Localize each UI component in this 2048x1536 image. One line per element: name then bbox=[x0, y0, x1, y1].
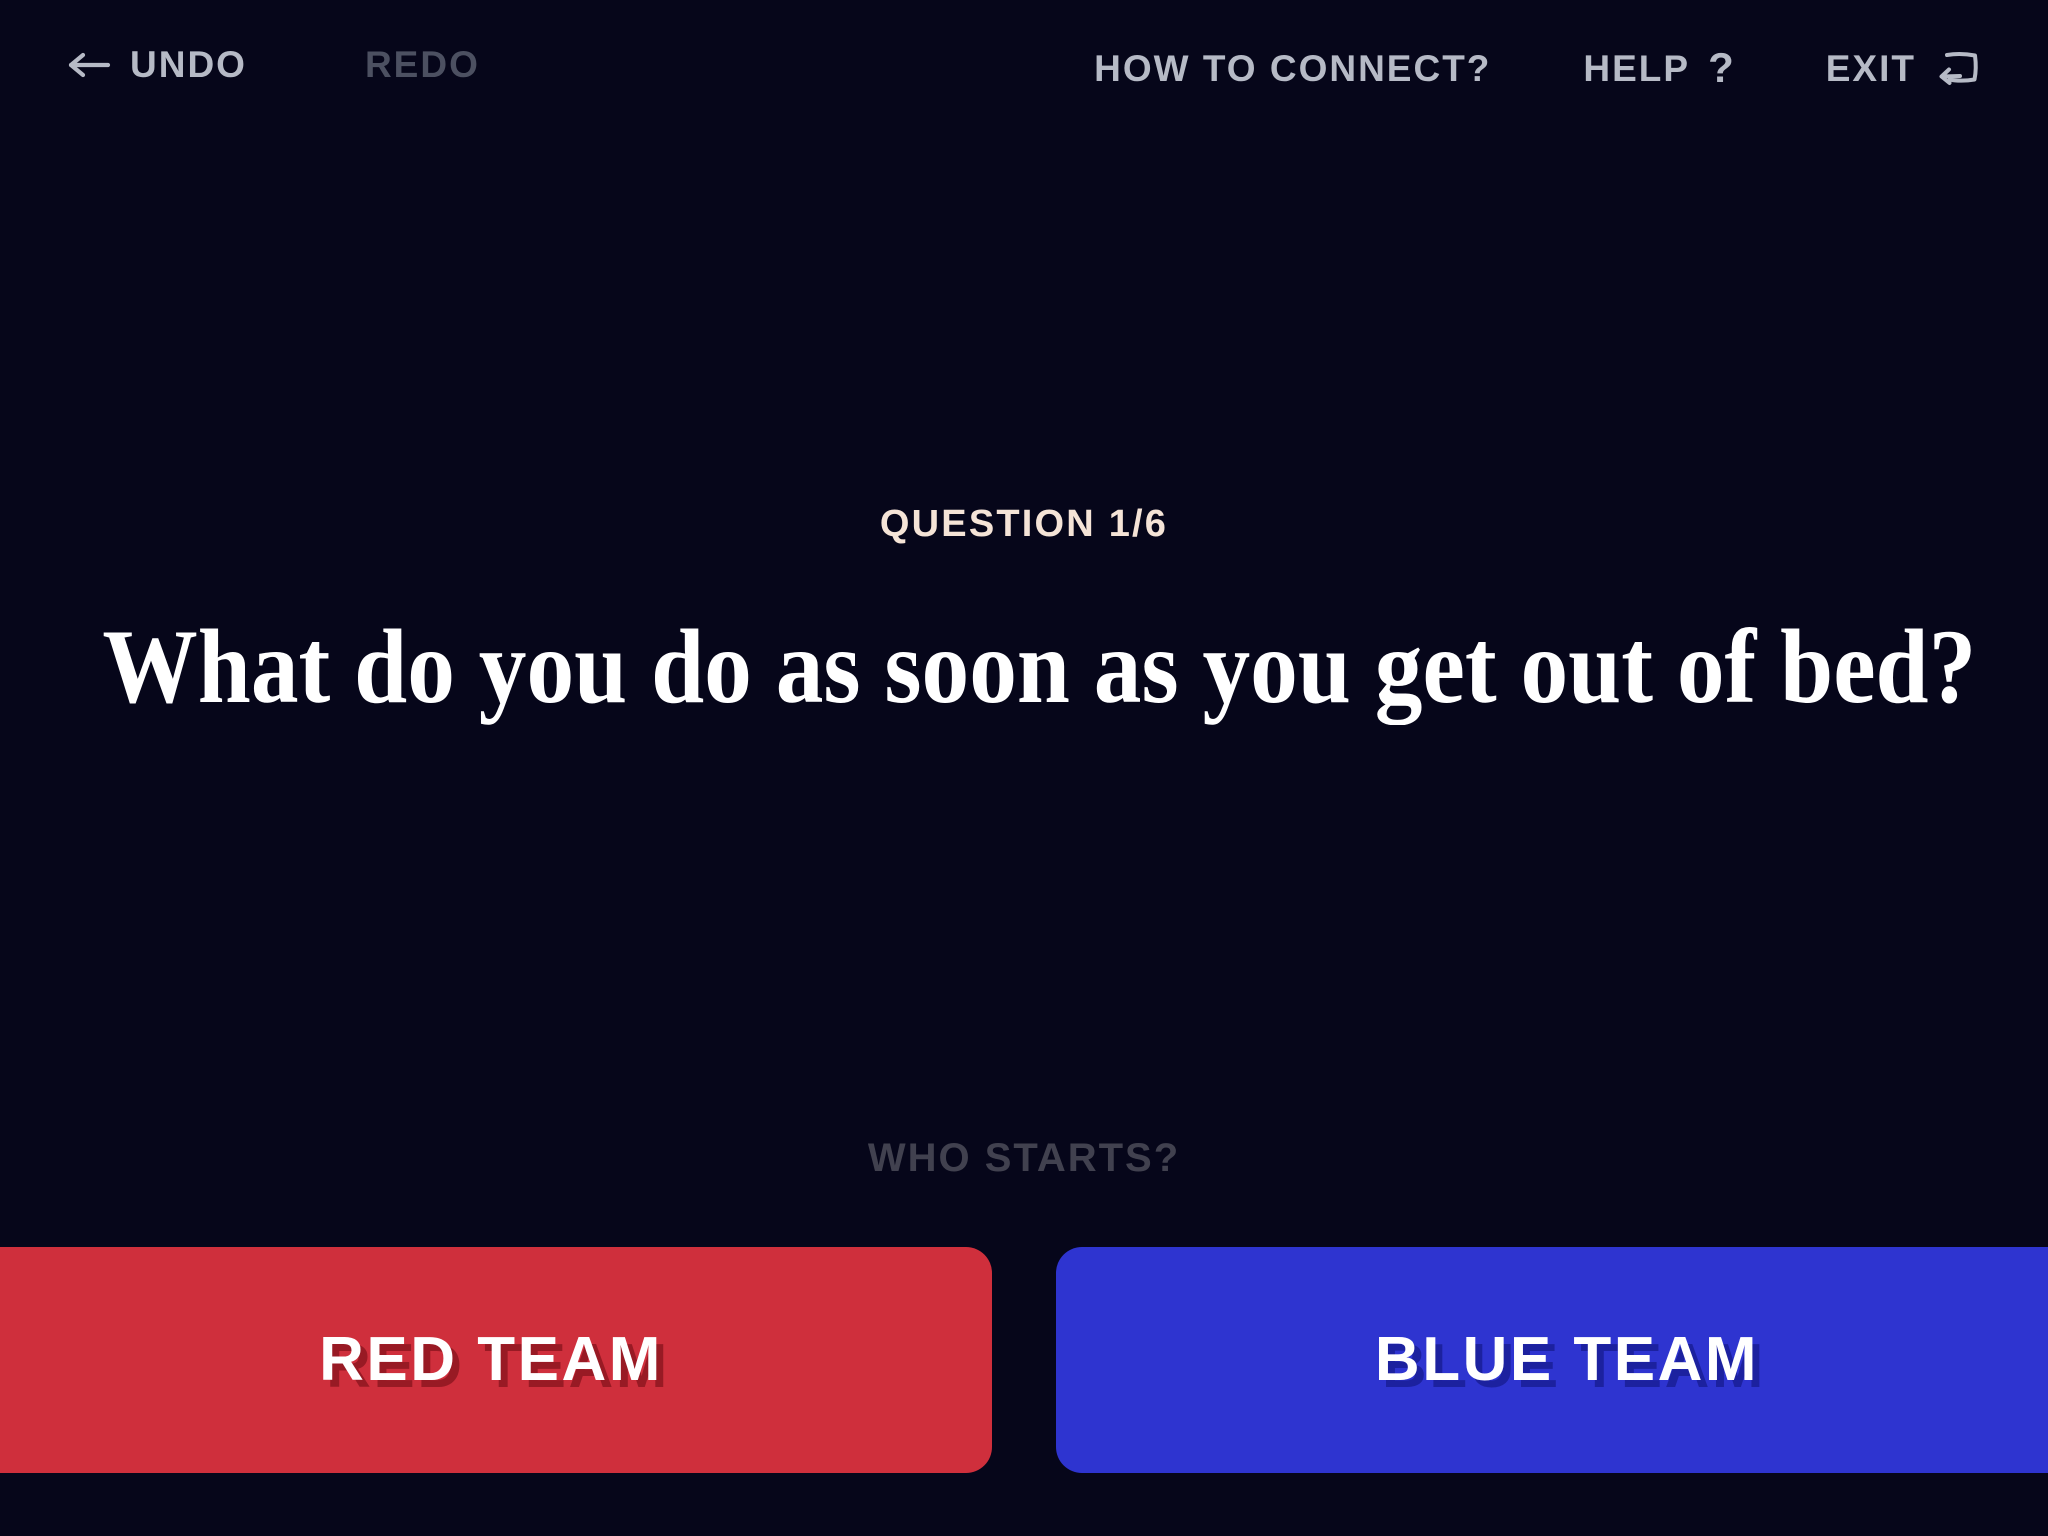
red-team-label: RED TEAM bbox=[319, 1329, 663, 1391]
undo-button[interactable]: UNDO bbox=[68, 46, 247, 83]
how-to-connect-label: HOW TO CONNECT? bbox=[1094, 50, 1491, 87]
red-team-button[interactable]: RED TEAM bbox=[0, 1247, 992, 1473]
app-header: UNDO REDO HOW TO CONNECT? HELP ? EXIT bbox=[0, 0, 2048, 150]
undo-label: UNDO bbox=[130, 46, 247, 83]
header-left-group: UNDO REDO bbox=[68, 46, 480, 83]
how-to-connect-button[interactable]: HOW TO CONNECT? bbox=[1094, 50, 1491, 87]
header-right-group: HOW TO CONNECT? HELP ? EXIT bbox=[1094, 46, 1982, 90]
question-counter: QUESTION 1/6 bbox=[0, 505, 2048, 543]
help-label: HELP bbox=[1583, 50, 1690, 87]
arrow-left-icon bbox=[68, 50, 112, 80]
exit-door-icon bbox=[1934, 46, 1982, 90]
question-mark-icon: ? bbox=[1708, 47, 1734, 89]
question-text: What do you do as soon as you get out of… bbox=[102, 608, 1945, 727]
help-button[interactable]: HELP ? bbox=[1583, 47, 1733, 89]
redo-button[interactable]: REDO bbox=[365, 46, 480, 83]
who-starts-prompt: WHO STARTS? bbox=[0, 1138, 2048, 1178]
blue-team-button[interactable]: BLUE TEAM bbox=[1056, 1247, 2048, 1473]
blue-team-label: BLUE TEAM bbox=[1375, 1329, 1759, 1391]
exit-button[interactable]: EXIT bbox=[1826, 46, 1982, 90]
redo-label: REDO bbox=[365, 46, 480, 83]
exit-label: EXIT bbox=[1826, 50, 1916, 87]
team-choice-bar: RED TEAM BLUE TEAM bbox=[0, 1247, 2048, 1473]
